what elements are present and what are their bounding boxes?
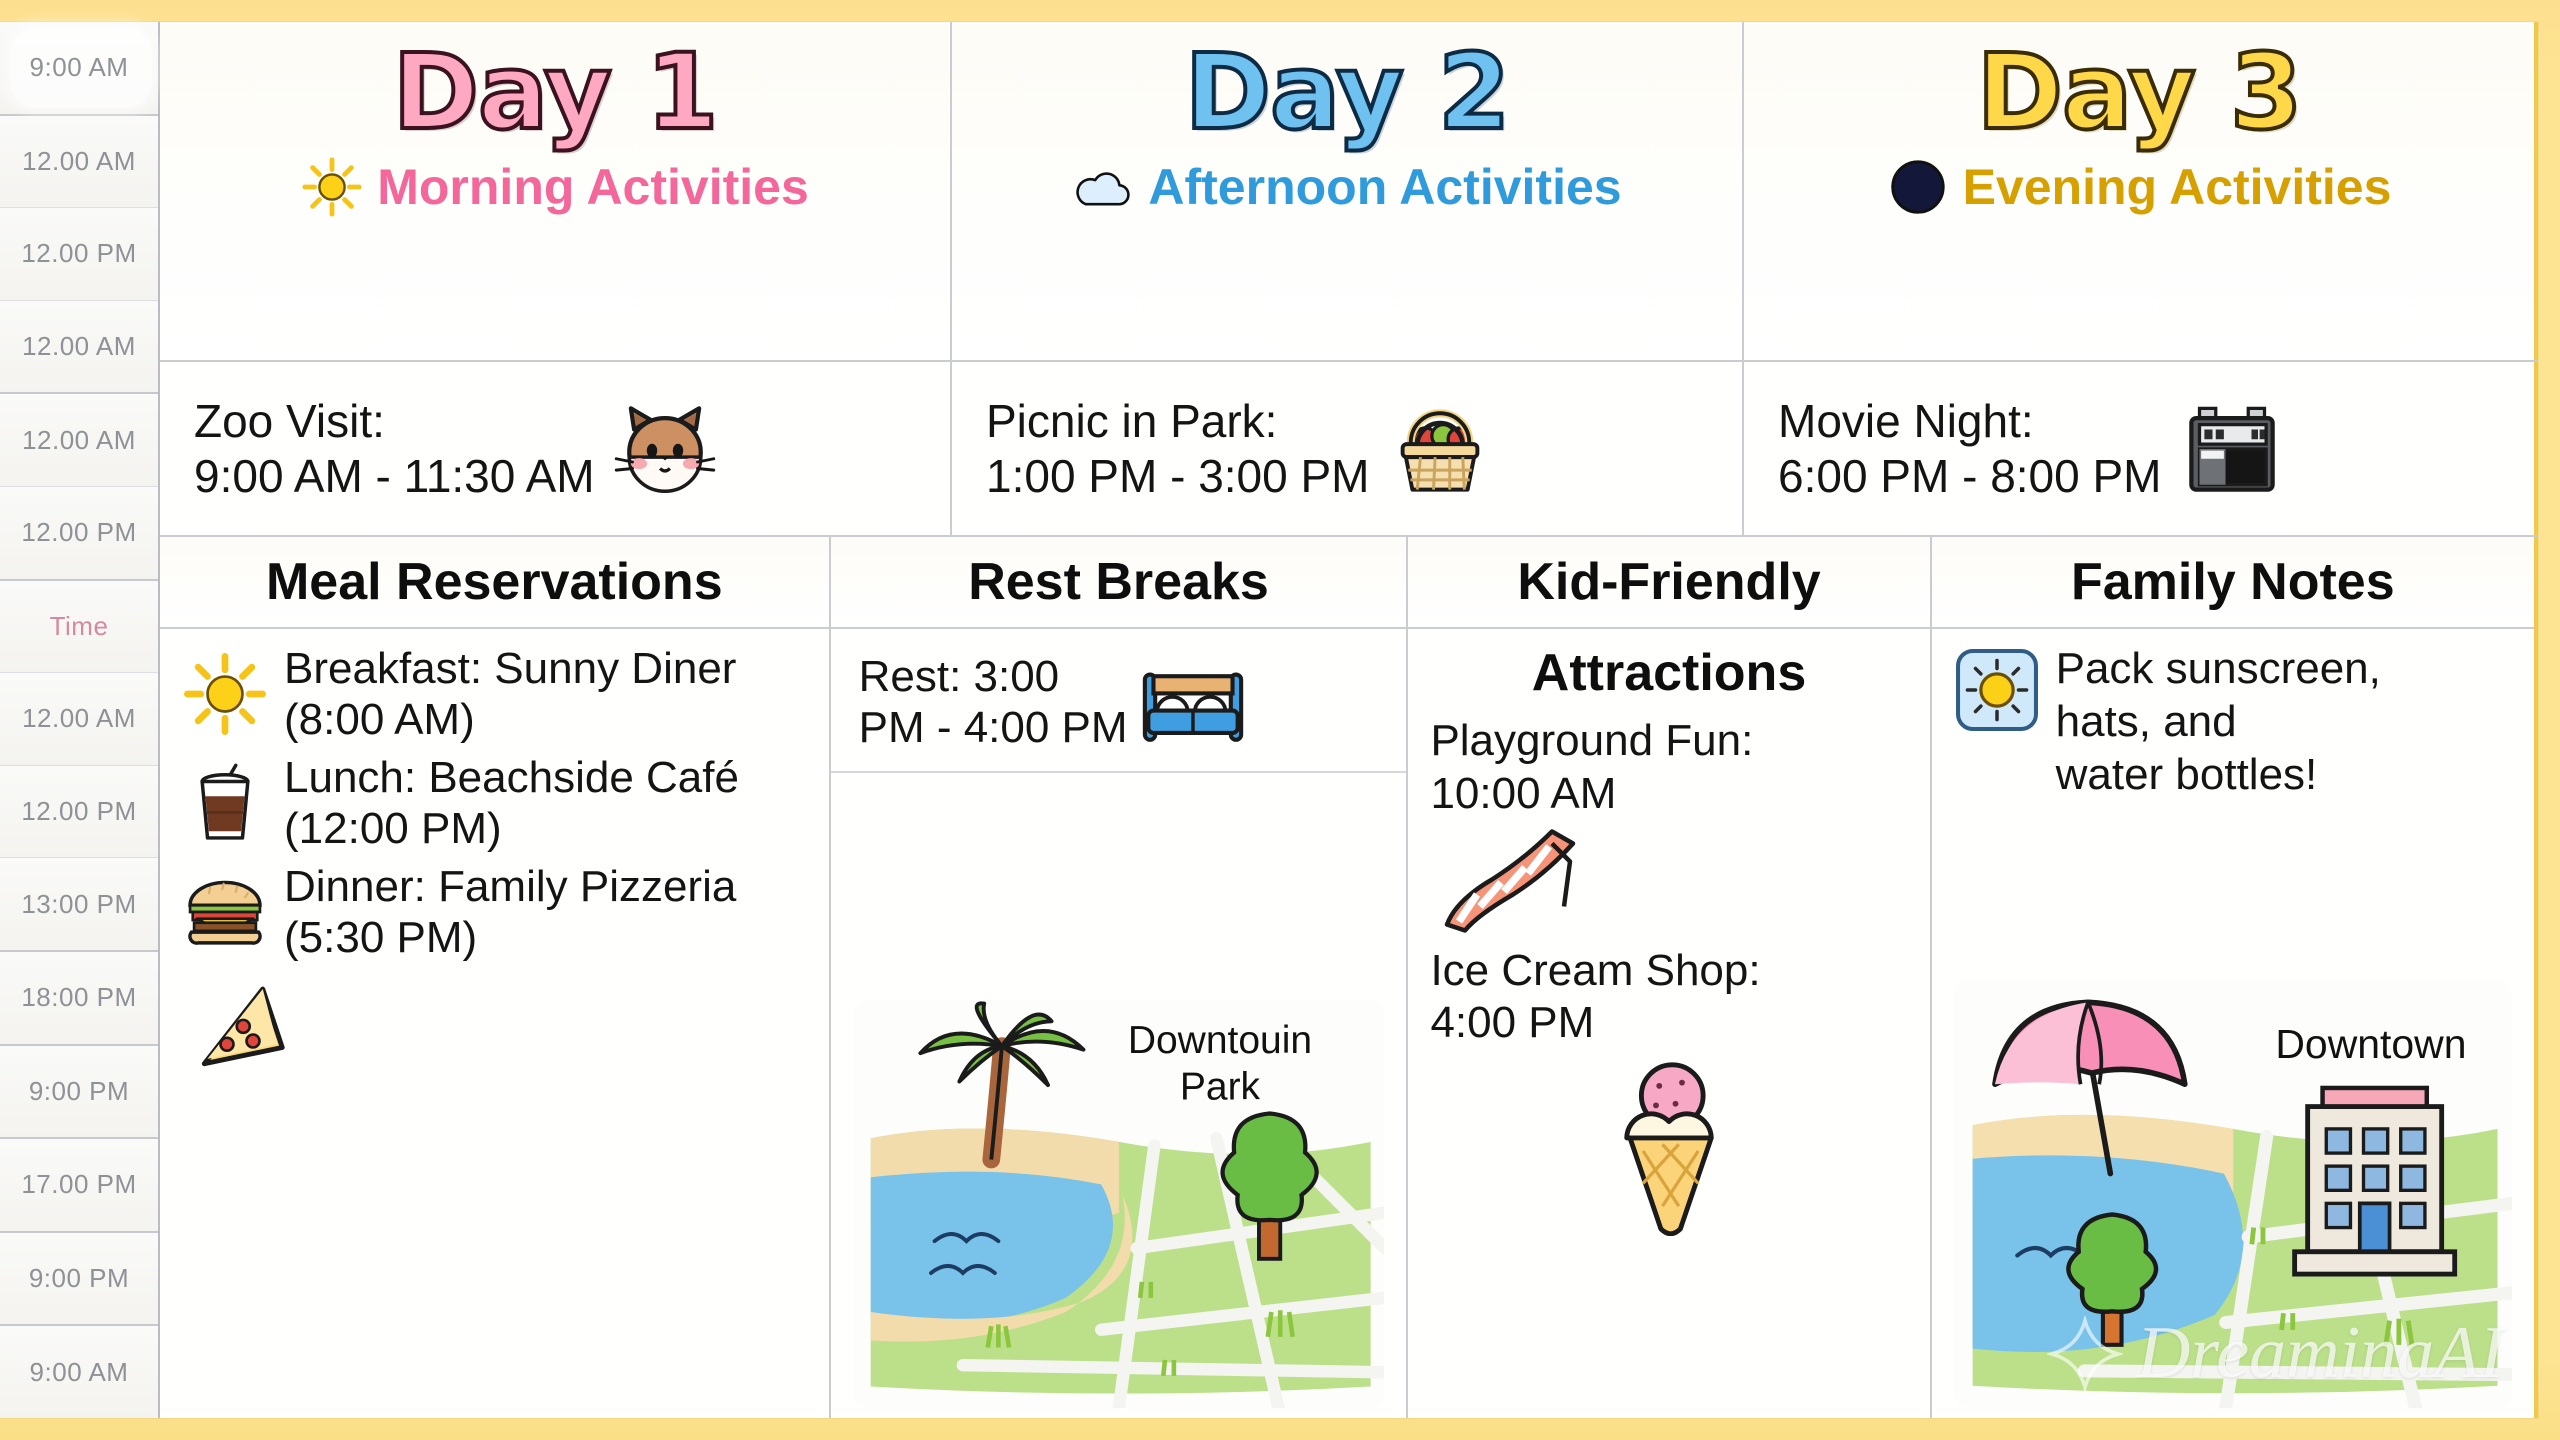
- panel-body: Pack sunscreen, hats, and water bottles!: [1932, 629, 2534, 1418]
- day-title: Day 2: [1185, 36, 1510, 148]
- family-note[interactable]: Pack sunscreen, hats, and water bottles!: [1954, 643, 2512, 801]
- time-slot-label: 9:00 PM: [29, 1076, 129, 1107]
- time-slot-label: 12.00 PM: [21, 796, 136, 827]
- day-subtitle-group: Morning Activities: [301, 156, 809, 218]
- picnic-basket-icon: [1388, 397, 1492, 501]
- beach-chair-icon: [1438, 825, 1588, 937]
- activity-cell-day2[interactable]: Picnic in Park:1:00 PM - 3:00 PM: [952, 362, 1744, 535]
- meal-text: Dinner: Family Pizzeria (5:30 PM): [284, 861, 807, 964]
- activity-text: Picnic in Park:1:00 PM - 3:00 PM: [986, 394, 1370, 503]
- activity-cell-day1[interactable]: Zoo Visit:9:00 AM - 11:30 AM: [160, 362, 952, 535]
- map-label-line1: Downtouin: [1127, 1019, 1311, 1062]
- time-slot-label: 12.00 AM: [22, 146, 136, 177]
- attraction-text: Playground Fun: 10:00 AM: [1430, 715, 1907, 821]
- pizza-slice-icon: [188, 976, 292, 1080]
- time-slot[interactable]: 13:00 PM: [0, 858, 158, 952]
- activity-text: Zoo Visit:9:00 AM - 11:30 AM: [194, 394, 595, 503]
- time-slot[interactable]: 9:00 AM: [0, 22, 158, 116]
- detail-panels-row: Meal Reservations: [160, 537, 2538, 1418]
- map-label: Downtown: [2275, 1021, 2466, 1067]
- day-column-1[interactable]: Day 1 Morning Activities: [160, 22, 952, 360]
- time-slot-label: 17.00 PM: [21, 1169, 136, 1200]
- day-title: Day 3: [1977, 36, 2302, 148]
- meal-item[interactable]: Breakfast: Sunny Diner (8:00 AM): [182, 643, 807, 746]
- day-title: Day 1: [393, 36, 718, 148]
- time-slot-label: 18:00 PM: [21, 982, 136, 1013]
- meal-text: Breakfast: Sunny Diner (8:00 AM): [284, 643, 807, 746]
- day-headers-row: Day 1 Morning Activities: [160, 22, 2538, 362]
- panel-title: Family Notes: [1932, 537, 2534, 629]
- meal-item[interactable]: Lunch: Beachside Café (12:00 PM): [182, 752, 807, 855]
- time-slot-label: 12.00 PM: [21, 238, 136, 269]
- time-slot[interactable]: 12.00 AM: [0, 394, 158, 487]
- time-slot-label: 12.00 PM: [21, 517, 136, 548]
- map-label-line2: Park: [1179, 1066, 1260, 1109]
- sun-weather-icon: [1954, 647, 2040, 733]
- sun-icon: [301, 156, 363, 218]
- downtown-map-illustration: Downtown: [1954, 980, 2512, 1408]
- day-subtitle-group: Afternoon Activities: [1072, 156, 1621, 218]
- day-subtitle: Afternoon Activities: [1148, 158, 1621, 216]
- cloud-icon: [1072, 156, 1134, 218]
- panel-family-notes: Family Notes: [1932, 537, 2538, 1418]
- sun-icon: [182, 651, 268, 737]
- time-slot[interactable]: 12.00 PM: [0, 766, 158, 859]
- time-slot-label: 9:00 AM: [30, 1357, 129, 1388]
- cat-face-icon: [613, 397, 717, 501]
- day-column-3[interactable]: Day 3 Evening Activities: [1744, 22, 2538, 360]
- meal-text: Lunch: Beachside Café (12:00 PM): [284, 752, 807, 855]
- time-slot-label: 9:00 PM: [29, 1263, 129, 1294]
- time-slot[interactable]: 9:00 PM: [0, 1046, 158, 1140]
- ice-cream-cone-icon: [1604, 1056, 1734, 1236]
- time-rail-label-text: Time: [50, 611, 109, 642]
- bed-icon: [1138, 647, 1248, 757]
- time-slot-label: 12.00 AM: [22, 425, 136, 456]
- panel-body: Breakfast: Sunny Diner (8:00 AM) Lunch: …: [160, 629, 829, 1418]
- time-slot-label: 13:00 PM: [21, 889, 136, 920]
- panel-body: Rest: 3:00 PM - 4:00 PM: [831, 629, 1407, 1418]
- map-downtown[interactable]: Downtown: [1954, 980, 2512, 1408]
- time-slot[interactable]: 12.00 PM: [0, 487, 158, 581]
- time-slot-label: 12.00 AM: [22, 703, 136, 734]
- panel-kid-friendly-attractions: Kid-Friendly Attractions Playground Fun:…: [1408, 537, 1931, 1418]
- time-slot-label: 9:00 AM: [30, 52, 129, 83]
- film-projector-icon: [2180, 397, 2284, 501]
- time-slot[interactable]: 12.00 AM: [0, 116, 158, 209]
- day-subtitle-group: Evening Activities: [1887, 156, 2392, 218]
- time-slot[interactable]: 9:00 PM: [0, 1233, 158, 1327]
- day-subtitle: Morning Activities: [377, 158, 809, 216]
- map-downtown-park[interactable]: Downtouin Park: [853, 1000, 1385, 1408]
- activity-text: Movie Night:6:00 PM - 8:00 PM: [1778, 394, 2162, 503]
- panel-title: Meal Reservations: [160, 537, 829, 629]
- panel-title: Kid-Friendly: [1408, 537, 1929, 629]
- panel-body: Attractions Playground Fun: 10:00 AM: [1408, 629, 1929, 1418]
- burger-icon: [182, 869, 268, 955]
- itinerary-board: 9:00 AM 12.00 AM 12.00 PM 12.00 AM 12.00…: [0, 22, 2538, 1418]
- time-slot[interactable]: 12.00 AM: [0, 301, 158, 395]
- day-activities-row: Zoo Visit:9:00 AM - 11:30 AM: [160, 362, 2538, 537]
- panel-meal-reservations: Meal Reservations: [160, 537, 831, 1418]
- activity-cell-day3[interactable]: Movie Night:6:00 PM - 8:00 PM: [1744, 362, 2538, 535]
- panel-rest-breaks: Rest Breaks Rest: 3:00 PM - 4:00 PM: [831, 537, 1409, 1418]
- time-slot[interactable]: 18:00 PM: [0, 952, 158, 1046]
- schedule-content: Day 1 Morning Activities: [160, 22, 2538, 1418]
- time-rail-section-label: Time: [0, 581, 158, 674]
- time-rail: 9:00 AM 12.00 AM 12.00 PM 12.00 AM 12.00…: [0, 22, 160, 1418]
- attraction-text: Ice Cream Shop: 4:00 PM: [1430, 945, 1907, 1051]
- park-map-illustration: Downtouin Park: [853, 1000, 1385, 1408]
- time-slot[interactable]: 9:00 AM: [0, 1326, 158, 1418]
- itinerary-board-page: 9:00 AM 12.00 AM 12.00 PM 12.00 AM 12.00…: [0, 0, 2560, 1440]
- office-building-icon: [2294, 1088, 2454, 1274]
- time-slot-label: 12.00 AM: [22, 331, 136, 362]
- rest-entry-text: Rest: 3:00 PM - 4:00 PM: [859, 651, 1128, 754]
- day-subtitle: Evening Activities: [1963, 158, 2392, 216]
- crescent-moon-icon: [1887, 156, 1949, 218]
- panel-subtitle: Attractions: [1430, 643, 1907, 703]
- family-note-text: Pack sunscreen, hats, and water bottles!: [2056, 643, 2381, 801]
- time-slot[interactable]: 12.00 AM: [0, 673, 158, 766]
- day-column-2[interactable]: Day 2 Afternoon Activities: [952, 22, 1744, 360]
- meal-item[interactable]: Dinner: Family Pizzeria (5:30 PM): [182, 861, 807, 964]
- time-slot[interactable]: 12.00 PM: [0, 208, 158, 301]
- rest-entry[interactable]: Rest: 3:00 PM - 4:00 PM: [831, 643, 1407, 773]
- coffee-cup-icon: [182, 760, 268, 846]
- time-slot[interactable]: 17.00 PM: [0, 1139, 158, 1233]
- panel-title: Rest Breaks: [831, 537, 1407, 629]
